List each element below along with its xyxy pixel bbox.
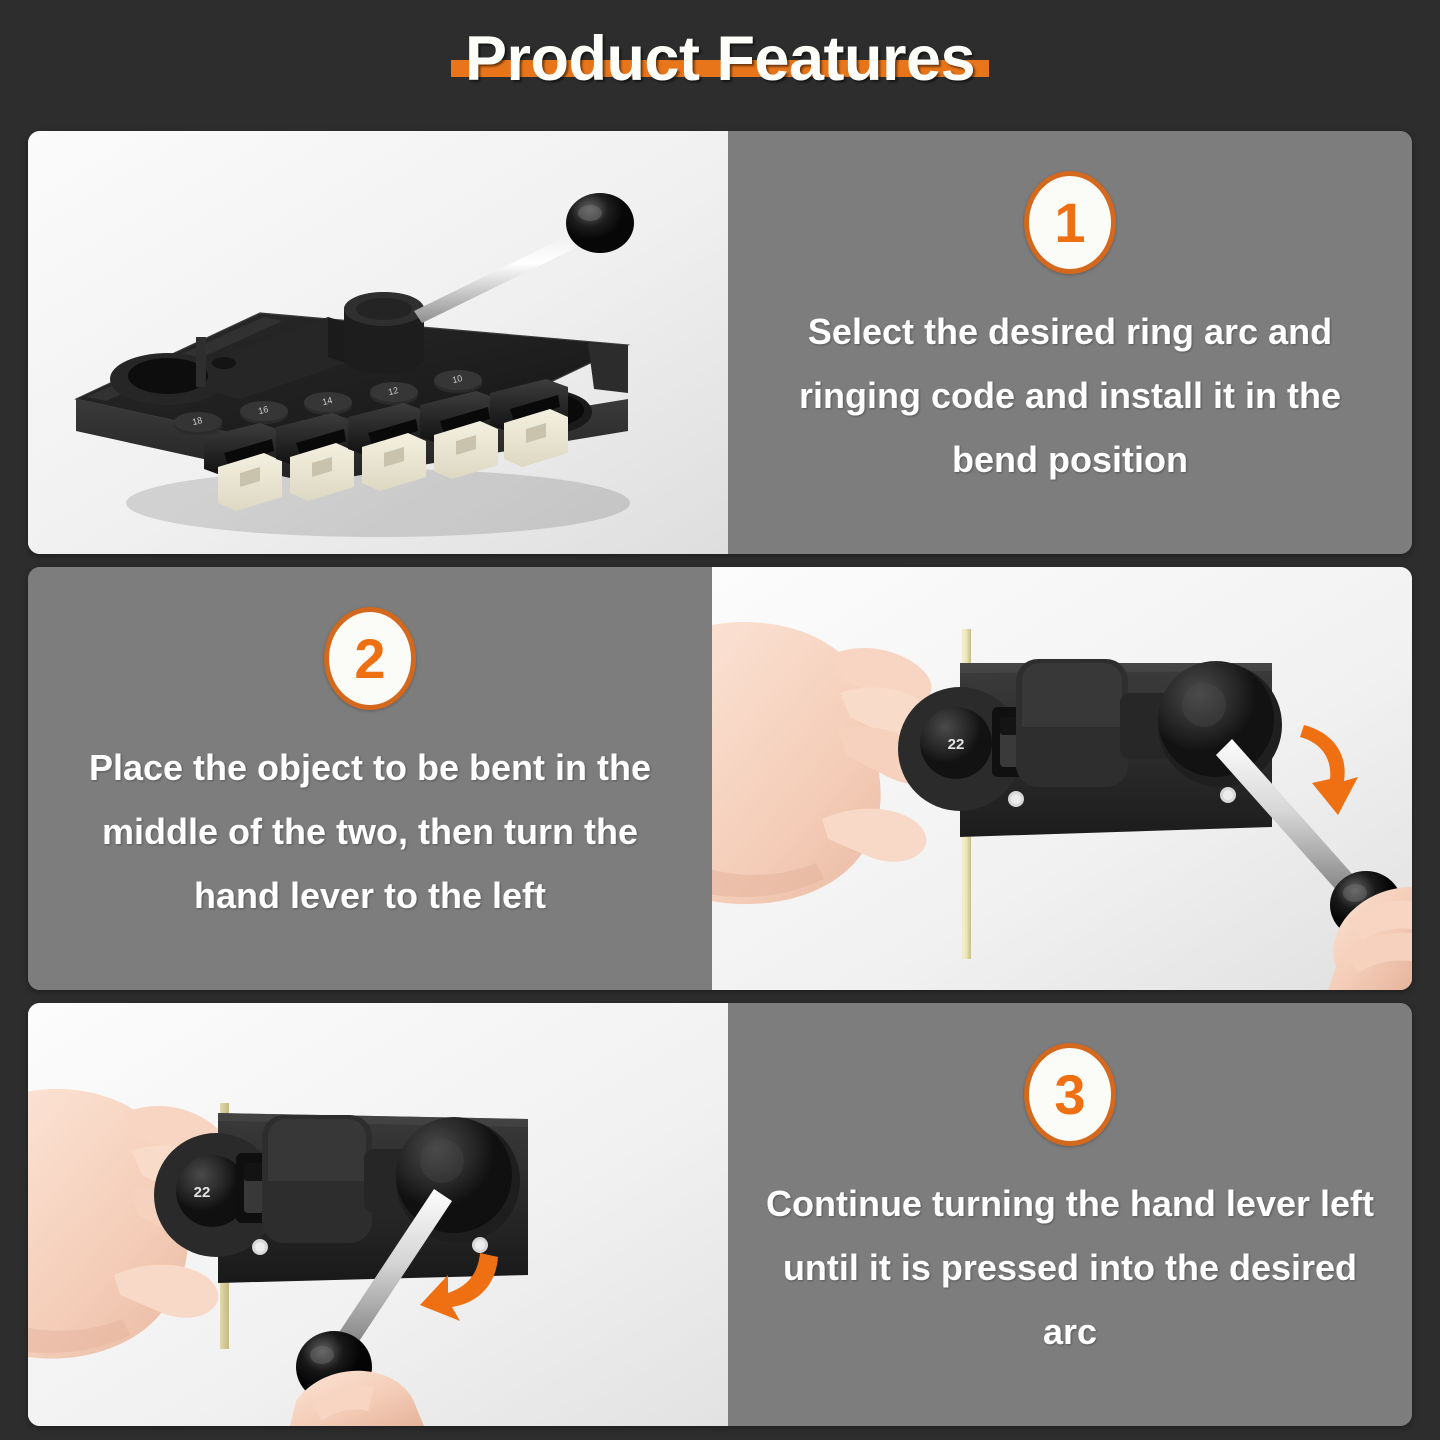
step-2-description: Place the object to be bent in the middl… — [60, 736, 680, 928]
step-2-text-pane: 2 Place the object to be bent in the mid… — [28, 567, 712, 990]
step-3-badge: 3 — [1024, 1043, 1116, 1146]
step-3-number: 3 — [1054, 1067, 1085, 1123]
die-label-22: 22 — [194, 1184, 211, 1201]
step-2-photo: 22 — [712, 567, 1412, 990]
step-row-1: 18 16 14 12 — [28, 131, 1412, 554]
step-row-3: 22 — [28, 1003, 1412, 1426]
step-3-description: Continue turning the hand lever left unt… — [760, 1172, 1380, 1364]
die-label-22: 22 — [948, 736, 965, 753]
page-title-area: Product Features — [0, 0, 1440, 118]
bend-workpiece-illustration: 22 — [28, 1003, 728, 1426]
step-3-photo: 22 — [28, 1003, 728, 1426]
title-wrap: Product Features — [451, 28, 989, 91]
step-2-badge: 2 — [324, 607, 416, 710]
bending-tool-kit-illustration: 18 16 14 12 — [28, 131, 728, 554]
step-1-photo: 18 16 14 12 — [28, 131, 728, 554]
step-2-number: 2 — [354, 631, 385, 687]
product-features-infographic: Product Features — [0, 0, 1440, 1440]
step-1-text-pane: 1 Select the desired ring arc and ringin… — [728, 131, 1412, 554]
step-1-number: 1 — [1054, 195, 1085, 251]
step-1-description: Select the desired ring arc and ringing … — [760, 300, 1380, 492]
page-title: Product Features — [465, 28, 975, 91]
step-1-badge: 1 — [1024, 171, 1116, 274]
step-3-text-pane: 3 Continue turning the hand lever left u… — [728, 1003, 1412, 1426]
step-row-2: 2 Place the object to be bent in the mid… — [28, 567, 1412, 990]
insert-workpiece-illustration: 22 — [712, 567, 1412, 990]
